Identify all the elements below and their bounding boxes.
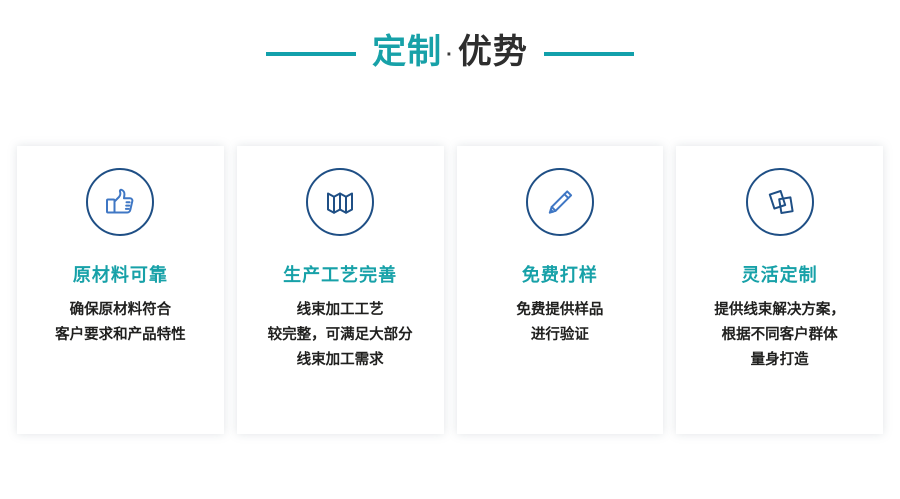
folded-map-icon <box>306 168 374 236</box>
feature-card-list: 原材料可靠 确保原材料符合 客户要求和产品特性 生产工艺完善 线束加工工艺 较完… <box>17 146 883 434</box>
feature-card-title: 生产工艺完善 <box>283 264 397 286</box>
feature-card-body-line: 客户要求和产品特性 <box>55 323 186 348</box>
feature-card-body-line: 线束加工需求 <box>268 348 413 373</box>
feature-card-raw-material[interactable]: 原材料可靠 确保原材料符合 客户要求和产品特性 <box>17 146 224 434</box>
feature-card-body-line: 确保原材料符合 <box>55 298 186 323</box>
feature-card-body-line: 进行验证 <box>516 323 603 348</box>
page-title: 定制 · 优势 <box>372 32 528 77</box>
feature-card-body-line: 线束加工工艺 <box>268 298 413 323</box>
feature-card-body-line: 免费提供样品 <box>516 298 603 323</box>
feature-card-flexible-customization[interactable]: 灵活定制 提供线束解决方案， 根据不同客户群体 量身打造 <box>676 146 883 434</box>
title-accent-text: 定制 <box>372 32 442 72</box>
feature-card-body: 提供线束解决方案， 根据不同客户群体 量身打造 <box>706 298 853 373</box>
feature-card-free-sample[interactable]: 免费打样 免费提供样品 进行验证 <box>457 146 664 434</box>
feature-card-title: 原材料可靠 <box>73 264 168 286</box>
feature-card-production-process[interactable]: 生产工艺完善 线束加工工艺 较完整，可满足大部分 线束加工需求 <box>237 146 444 434</box>
feature-card-body-line: 根据不同客户群体 <box>714 323 845 348</box>
stacked-cards-icon <box>746 168 814 236</box>
title-rule-right <box>544 52 634 56</box>
feature-card-title: 免费打样 <box>522 264 598 286</box>
thumbs-up-icon <box>86 168 154 236</box>
title-separator-dot: · <box>442 35 458 75</box>
pencil-icon <box>526 168 594 236</box>
feature-card-title: 灵活定制 <box>742 264 818 286</box>
feature-card-body-line: 量身打造 <box>714 348 845 373</box>
title-main-text: 优势 <box>458 32 528 72</box>
feature-card-body-line: 较完整，可满足大部分 <box>268 323 413 348</box>
feature-card-body: 线束加工工艺 较完整，可满足大部分 线束加工需求 <box>260 298 421 373</box>
section-title: 定制 · 优势 <box>0 26 900 82</box>
feature-card-body: 免费提供样品 进行验证 <box>508 298 611 348</box>
feature-card-body-line: 提供线束解决方案， <box>714 298 845 323</box>
title-rule-left <box>266 52 356 56</box>
feature-card-body: 确保原材料符合 客户要求和产品特性 <box>47 298 194 348</box>
